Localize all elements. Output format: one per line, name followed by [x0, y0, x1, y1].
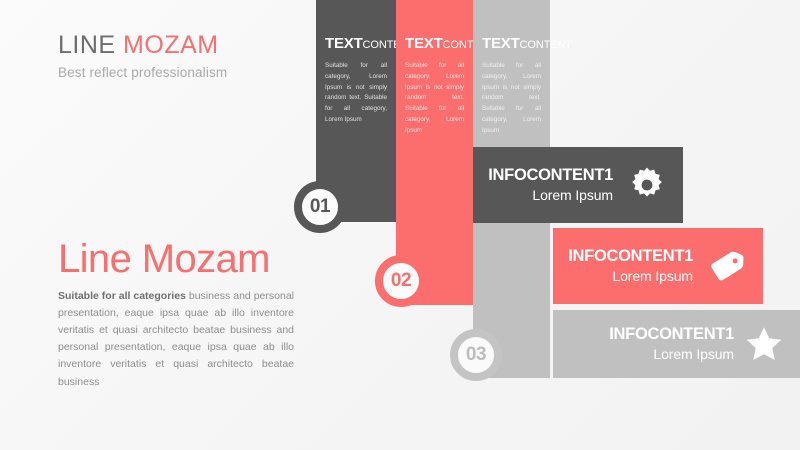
text-column-2-heading: TEXTCONTENT [405, 36, 464, 52]
info-bar-1[interactable]: INFOCONTENT1 Lorem Ipsum [473, 147, 683, 223]
brand-title-primary: LINE [58, 31, 116, 59]
info-bar-3[interactable]: INFOCONTENT1 Lorem Ipsum [553, 310, 800, 378]
feature-paragraph: Suitable for all categories business and… [58, 288, 294, 391]
step-badge-01: 01 [294, 181, 346, 233]
brand-title: LINE MOZAM [58, 32, 227, 58]
tag-icon [707, 246, 747, 286]
text-column-1-heading: TEXTCONTENT [325, 36, 387, 52]
info-bar-3-title: INFOCONTENT1 [609, 325, 734, 344]
text-column-2-heading-strong: TEXT [405, 35, 443, 52]
step-badge-03: 03 [450, 329, 502, 381]
text-column-3-heading-light: CONTENT [520, 39, 572, 51]
feature-paragraph-lead: Suitable for all categories [58, 290, 186, 302]
info-bar-1-texts: INFOCONTENT1 Lorem Ipsum [488, 166, 613, 204]
info-bar-2-texts: INFOCONTENT1 Lorem Ipsum [568, 247, 693, 285]
info-bar-2[interactable]: INFOCONTENT1 Lorem Ipsum [553, 228, 763, 304]
text-column-1-heading-strong: TEXT [325, 35, 363, 52]
text-column-3-heading: TEXTCONTENT [482, 36, 541, 52]
text-column-3-heading-strong: TEXT [482, 35, 520, 52]
gear-icon [627, 165, 667, 205]
text-column-1-body: Suitable for all category, Lorem Ipsum i… [325, 61, 387, 126]
step-badge-02: 02 [375, 255, 427, 307]
info-bar-2-subtitle: Lorem Ipsum [568, 268, 693, 285]
text-column-2-body: Suitable for all category, Lorem Ipsum i… [405, 61, 464, 137]
feature-paragraph-rest: business and personal presentation, eaqu… [58, 290, 294, 388]
text-column-3-body: Suitable for all category, Lorem Ipsum i… [482, 61, 541, 137]
brand-title-accent: MOZAM [123, 31, 219, 59]
info-bar-3-subtitle: Lorem Ipsum [609, 346, 734, 363]
info-bar-3-texts: INFOCONTENT1 Lorem Ipsum [609, 325, 734, 363]
info-bar-1-subtitle: Lorem Ipsum [488, 187, 613, 204]
feature-headline: Line Mozam [58, 239, 270, 279]
brand-tagline: Best reflect professionalism [58, 65, 227, 80]
star-icon [744, 324, 784, 364]
slide-canvas: LINE MOZAM Best reflect professionalism … [0, 0, 800, 450]
brand-logo: LINE MOZAM Best reflect professionalism [58, 32, 227, 80]
info-bar-1-title: INFOCONTENT1 [488, 166, 613, 185]
info-bar-2-title: INFOCONTENT1 [568, 247, 693, 266]
